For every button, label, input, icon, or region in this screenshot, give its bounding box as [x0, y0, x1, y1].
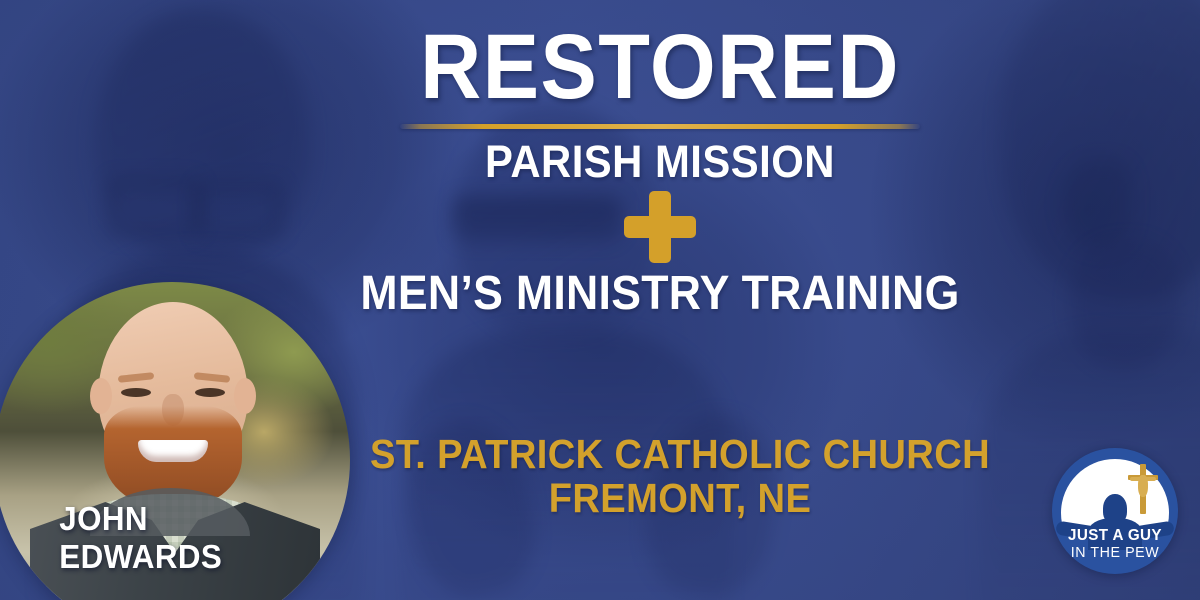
event-poster: RESTORED PARISH MISSION MEN’S MINISTRY T… — [0, 0, 1200, 600]
poster-subtitle: PARISH MISSION — [353, 139, 967, 184]
speaker-first-name: JOHN — [59, 500, 222, 538]
brand-logo-line-one: JUST A GUY — [1055, 528, 1175, 545]
logo-crucifix-icon — [1126, 464, 1160, 514]
speaker-eye-left — [121, 388, 151, 397]
speaker-smile — [138, 440, 208, 462]
cross-horizontal-bar — [624, 216, 696, 238]
speaker-ear-left — [90, 378, 112, 414]
poster-subtitle-two: MEN’S MINISTRY TRAINING — [353, 270, 967, 318]
brand-logo[interactable]: JUST A GUY IN THE PEW — [1052, 448, 1178, 574]
gold-divider-rule — [400, 124, 920, 129]
poster-title: RESTORED — [356, 22, 963, 112]
venue-block: ST. PATRICK CATHOLIC CHURCH FREMONT, NE — [330, 432, 1030, 521]
brand-logo-inner: JUST A GUY IN THE PEW — [1052, 448, 1178, 574]
brand-logo-line-two: IN THE PEW — [1055, 545, 1175, 562]
brand-logo-text: JUST A GUY IN THE PEW — [1052, 528, 1178, 562]
plus-cross-icon — [624, 191, 696, 263]
speaker-name: JOHN EDWARDS — [59, 500, 222, 575]
cross-symbol-wrap — [330, 184, 990, 270]
speaker-last-name: EDWARDS — [59, 538, 222, 576]
speaker-ear-right — [234, 378, 256, 414]
venue-city-state: FREMONT, NE — [355, 476, 1006, 520]
crucifix-corpus-arms — [1130, 477, 1156, 481]
headline-block: RESTORED PARISH MISSION MEN’S MINISTRY T… — [330, 22, 990, 318]
speaker-eye-right — [195, 388, 225, 397]
venue-church-name: ST. PATRICK CATHOLIC CHURCH — [355, 432, 1006, 476]
